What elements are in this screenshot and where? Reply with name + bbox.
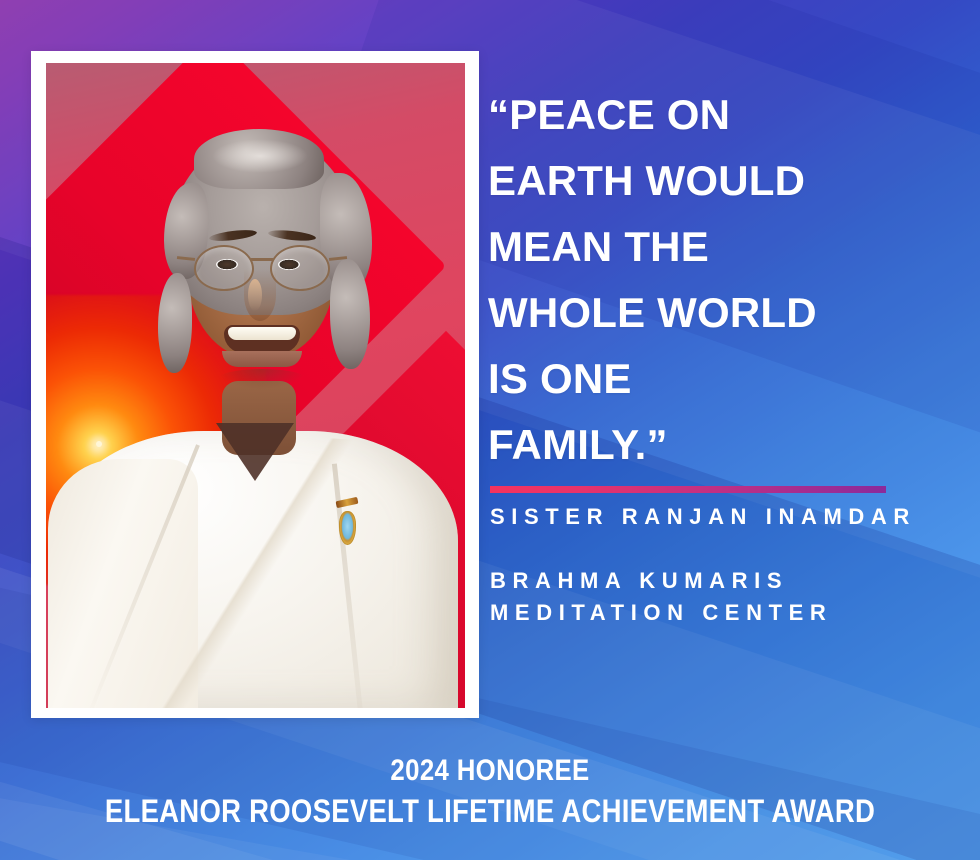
banner-award-title: ELEANOR ROOSEVELT LIFETIME ACHIEVEMENT A… (69, 790, 912, 832)
banner-honoree-year: 2024 HONOREE (69, 752, 912, 790)
lower-lip (222, 351, 302, 367)
gradient-divider (490, 486, 886, 493)
quote-line-5: IS ONE (488, 346, 948, 412)
eyeglass-bridge (250, 258, 274, 261)
teeth (228, 327, 296, 340)
lapel-pin-medal (339, 511, 356, 545)
quote-line-1: “PEACE ON (488, 82, 948, 148)
quote-text: “PEACE ON EARTH WOULD MEAN THE WHOLE WOR… (488, 82, 948, 478)
lapel-pin-icon (336, 499, 352, 553)
eyeglass-lens-right (270, 245, 330, 291)
award-banner: 2024 HONOREE ELEANOR ROOSEVELT LIFETIME … (0, 752, 980, 832)
quote-line-3: MEAN THE (488, 214, 948, 280)
quote-line-4: WHOLE WORLD (488, 280, 948, 346)
honoree-organization: BRAHMA KUMARIS MEDITATION CENTER (490, 565, 832, 629)
nose-highlight (248, 279, 262, 311)
organization-line-1: BRAHMA KUMARIS (490, 565, 832, 597)
honoree-portrait-photo (46, 63, 465, 708)
portrait-figure (46, 63, 465, 708)
quote-line-6: FAMILY.” (488, 412, 948, 478)
quote-line-2: EARTH WOULD (488, 148, 948, 214)
award-poster: “PEACE ON EARTH WOULD MEAN THE WHOLE WOR… (0, 0, 980, 860)
photo-frame (31, 51, 479, 718)
chin-shadow (218, 369, 306, 389)
mouth (224, 325, 300, 353)
organization-line-2: MEDITATION CENTER (490, 597, 832, 629)
hair-highlight (212, 139, 308, 173)
honoree-name: SISTER RANJAN INAMDAR (490, 504, 916, 530)
robe-lapel (154, 427, 404, 708)
hair-curl-left-lower (158, 273, 192, 373)
